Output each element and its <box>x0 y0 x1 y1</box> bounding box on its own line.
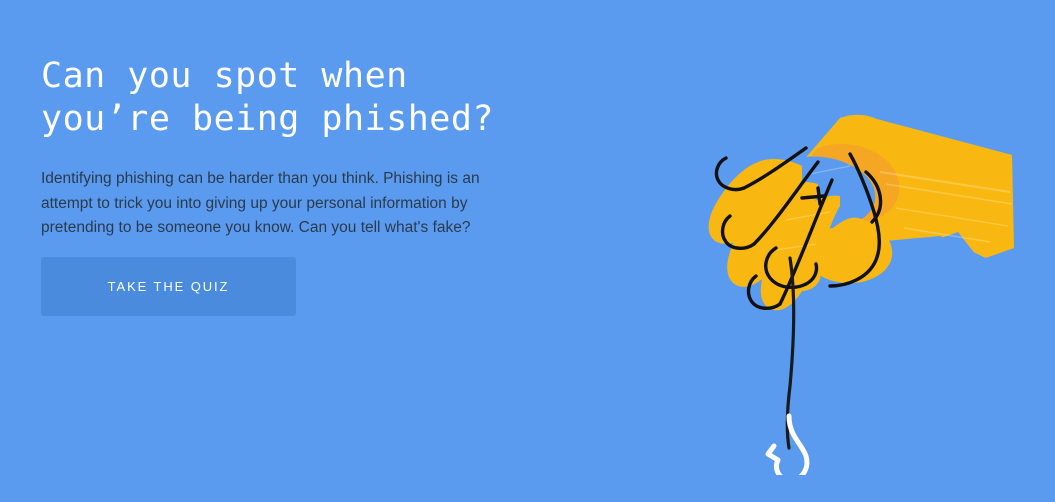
hero-description: Identifying phishing can be harder than … <box>41 141 501 241</box>
take-the-quiz-button[interactable]: TAKE THE QUIZ <box>41 257 296 316</box>
phishing-quiz-hero-banner: Can you spot when you’re being phished? … <box>0 0 1055 502</box>
page-title: Can you spot when you’re being phished? <box>41 55 561 141</box>
hand-shape <box>709 115 1014 350</box>
hero-text-block: Can you spot when you’re being phished? … <box>41 55 561 241</box>
hero-illustration <box>690 100 1035 475</box>
